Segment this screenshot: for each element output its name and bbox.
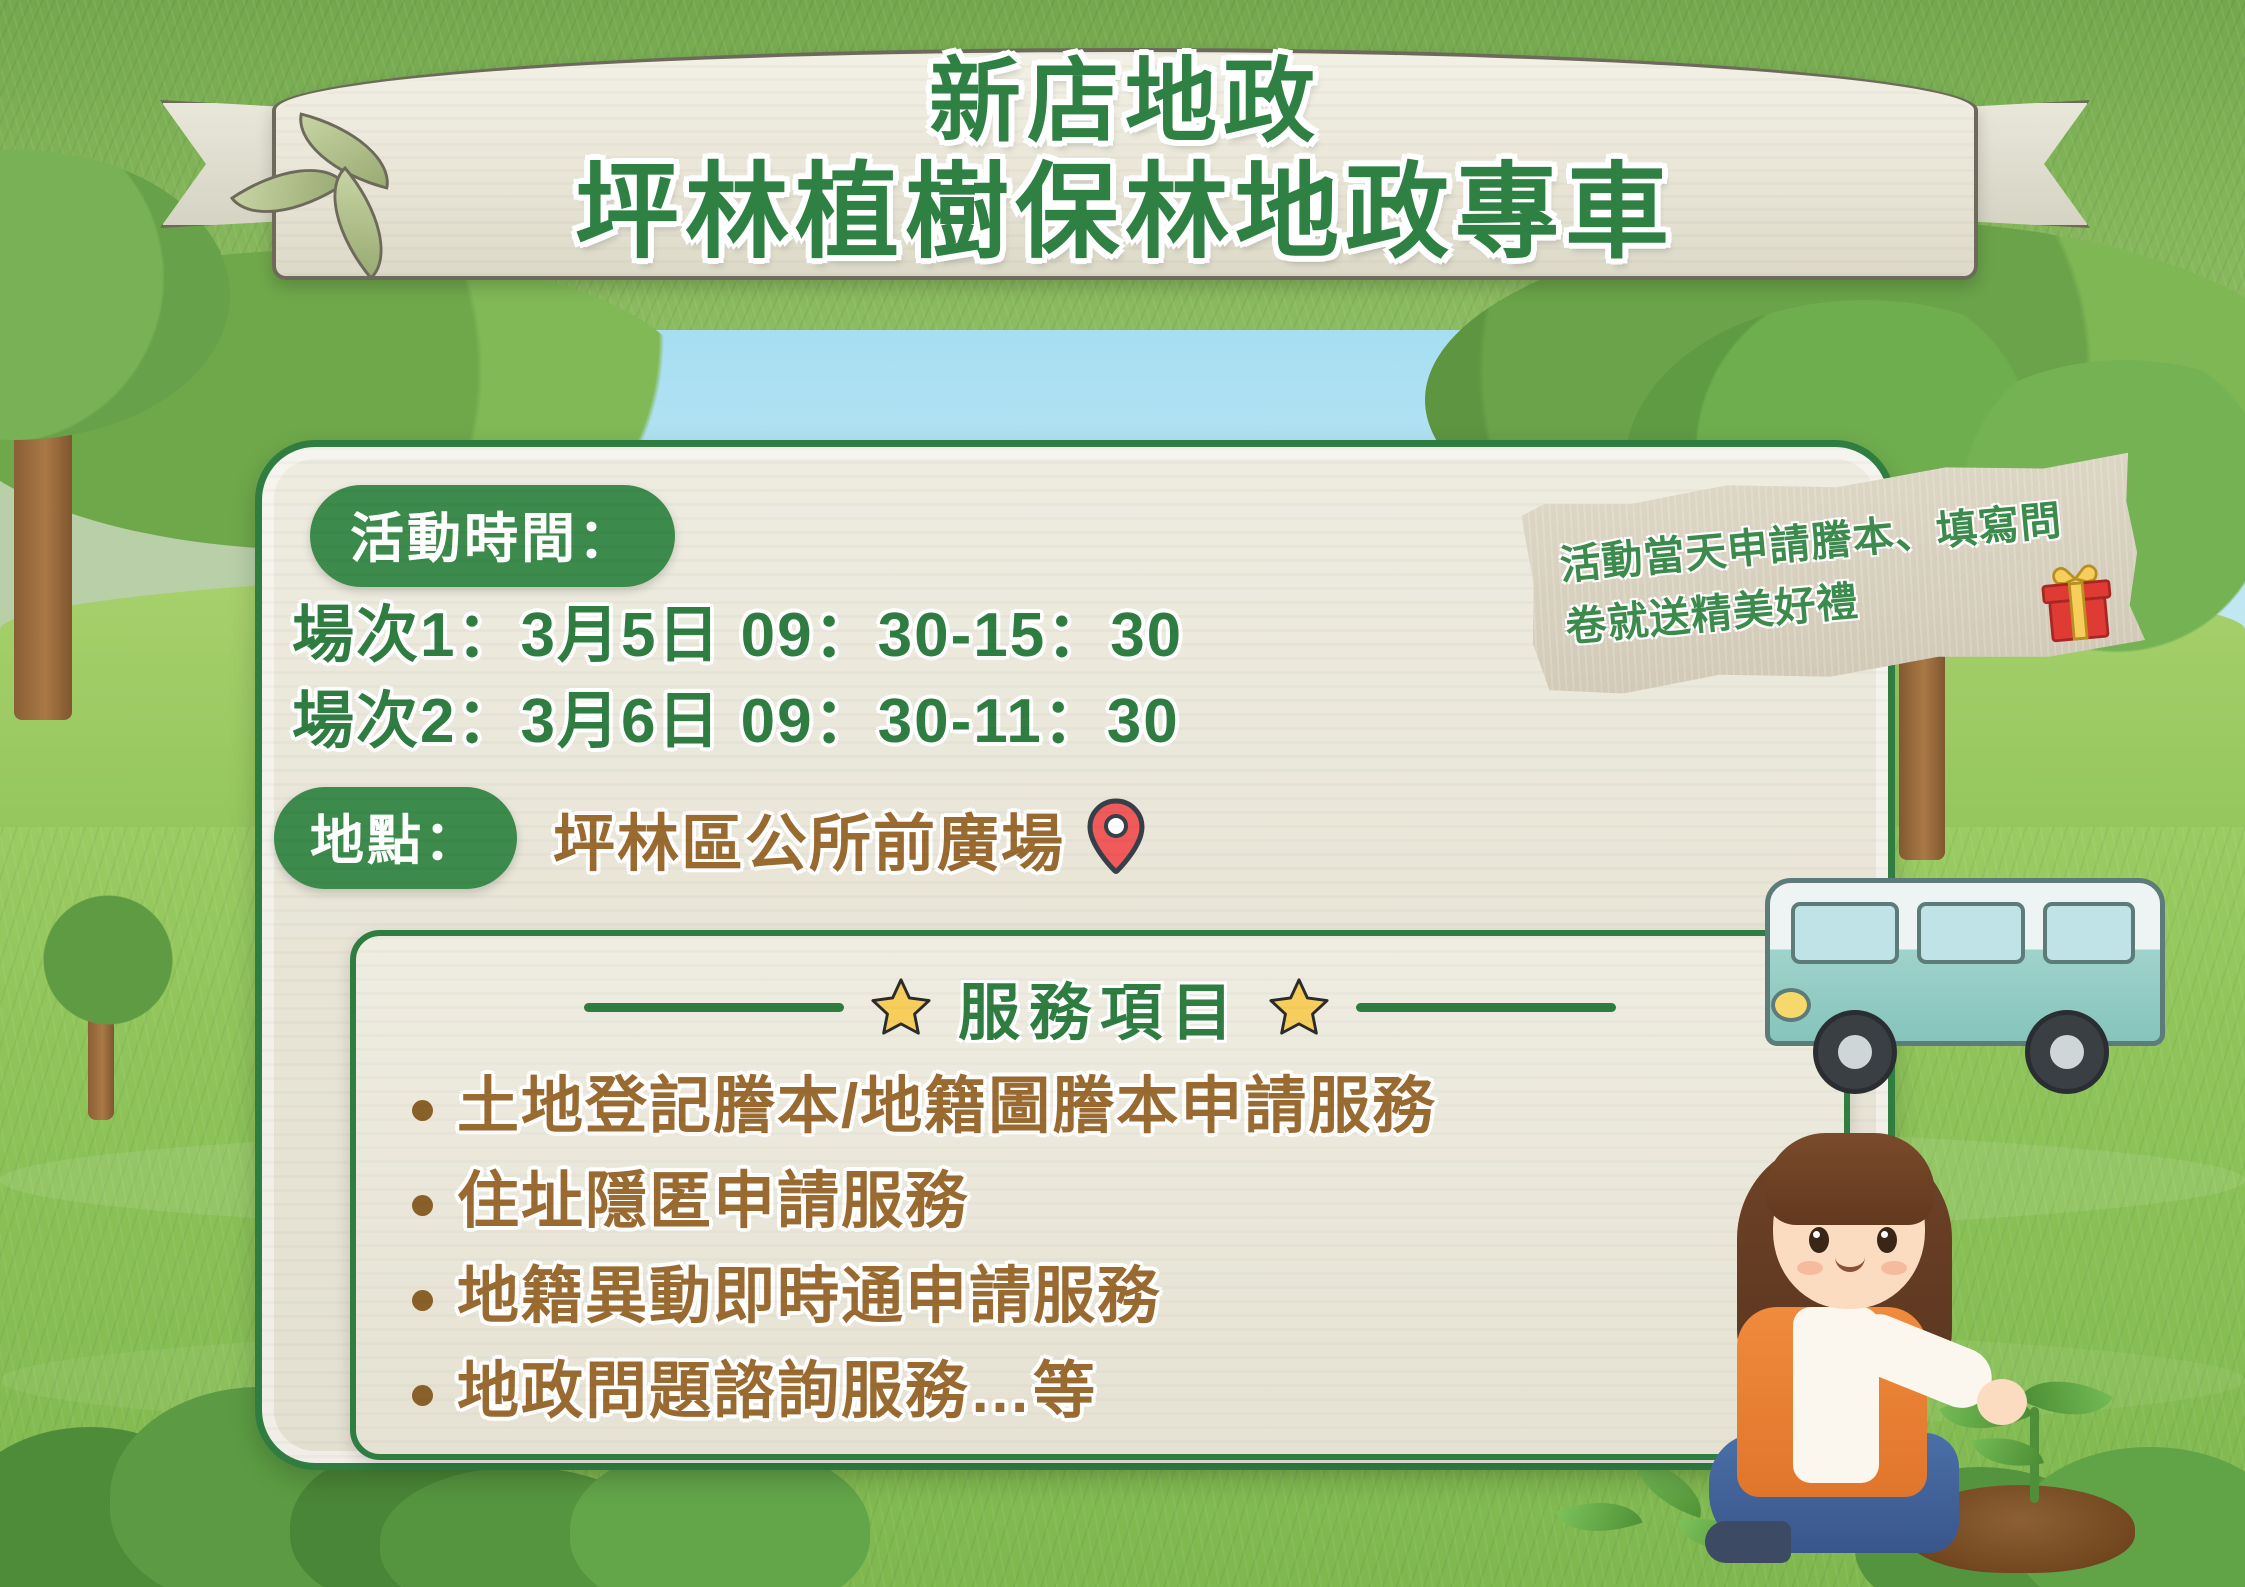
bullet-icon <box>412 1195 433 1216</box>
event-place-value: 坪林區公所前廣場 <box>553 793 1065 883</box>
list-item: 土地登記謄本/地籍圖謄本申請服務 <box>412 1064 1804 1150</box>
girl-bangs <box>1765 1133 1935 1225</box>
event-place-label: 地點： <box>274 787 517 889</box>
promo-note-text: 活動當天申請謄本、填寫問卷就送精美好禮 <box>1557 486 2106 658</box>
leaf-decoration-left <box>236 118 436 268</box>
session-row-2: 場次2：3月6日 09：30-11：30 <box>292 683 1180 761</box>
poster-title-line1: 新店地政 <box>160 50 2090 154</box>
list-item: 住址隱匿申請服務 <box>412 1159 1804 1245</box>
star-icon <box>1268 976 1330 1038</box>
van-window <box>2043 902 2135 964</box>
event-place-row: 地點： 坪林區公所前廣場 <box>274 787 1147 889</box>
tree-canopy-meadow <box>18 890 198 1030</box>
poster-title-line2: 坪林植樹保林地政專車 <box>160 154 2090 272</box>
girl-hand <box>1977 1379 2027 1425</box>
title-banner: 新店地政 坪林植樹保林地政專車 <box>160 22 2090 292</box>
girl-eye <box>1877 1227 1897 1253</box>
bullet-icon <box>412 1385 433 1406</box>
services-list: 土地登記謄本/地籍圖謄本申請服務 住址隱匿申請服務 地籍異動即時通申請服務 地政… <box>412 1064 1804 1444</box>
girl-shoe <box>1705 1521 1791 1563</box>
girl-eye <box>1809 1227 1829 1253</box>
header-rule-right <box>1356 1003 1616 1012</box>
list-item: 地籍異動即時通申請服務 <box>412 1254 1804 1340</box>
bullet-icon <box>412 1290 433 1311</box>
services-panel: 服務項目 土地登記謄本/地籍圖謄本申請服務 住址隱匿申請服務 地籍異動即時通申請… <box>350 930 1850 1460</box>
map-pin-icon <box>1085 798 1147 879</box>
van-window <box>1791 902 1899 964</box>
service-item-text: 地籍異動即時通申請服務 <box>457 1254 1161 1340</box>
van-headlight <box>1771 988 1811 1022</box>
service-item-text: 住址隱匿申請服務 <box>457 1159 969 1245</box>
bullet-icon <box>412 1100 433 1121</box>
service-item-text: 地政問題諮詢服務…等 <box>457 1349 1097 1435</box>
event-time-row: 活動時間： <box>310 485 675 587</box>
van-window <box>1917 902 2025 964</box>
header-rule-left <box>584 1003 844 1012</box>
girl-cheek <box>1797 1261 1823 1275</box>
services-header: 服務項目 <box>356 962 1844 1052</box>
girl-planting-illustration <box>1685 1081 2145 1581</box>
girl-cheek <box>1881 1261 1907 1275</box>
session-row-1: 場次1：3月5日 09：30-15：30 <box>292 597 1183 675</box>
list-item: 地政問題諮詢服務…等 <box>412 1349 1804 1435</box>
session-2-text: 場次2：3月6日 09：30-11：30 <box>292 683 1180 761</box>
service-item-text: 土地登記謄本/地籍圖謄本申請服務 <box>457 1064 1436 1150</box>
gift-icon <box>2027 550 2127 650</box>
star-icon <box>870 976 932 1038</box>
event-time-label: 活動時間： <box>310 485 675 587</box>
services-title: 服務項目 <box>958 962 1242 1052</box>
session-1-text: 場次1：3月5日 09：30-15：30 <box>292 597 1183 675</box>
